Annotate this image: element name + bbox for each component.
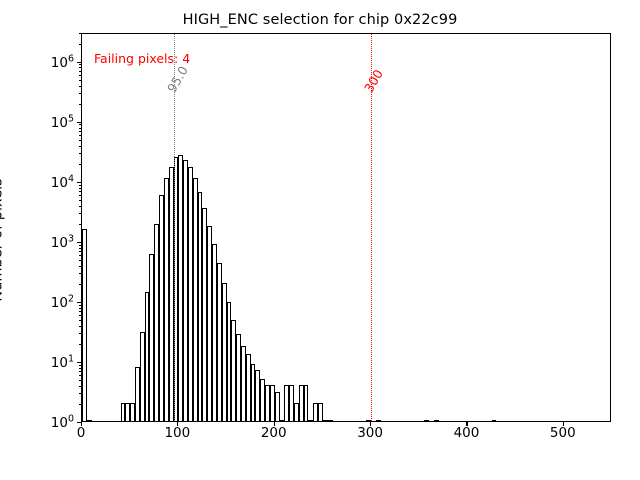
histogram-bar [328, 420, 333, 421]
y-axis-tick-label: 103 [24, 233, 74, 251]
histogram-bar [492, 420, 497, 421]
x-axis-tick-label: 300 [357, 425, 383, 441]
y-axis-tick-label: 101 [24, 353, 74, 371]
histogram-bar [376, 420, 381, 421]
failing-pixels-annotation: Failing pixels: 4 [94, 51, 190, 66]
chart-title: HIGH_ENC selection for chip 0x22c99 [0, 12, 640, 28]
histogram-bar [434, 420, 439, 421]
y-axis-tick-label: 100 [24, 413, 74, 431]
histogram-bars [82, 34, 610, 421]
y-axis-tick-label: 104 [24, 173, 74, 191]
histogram-bar [82, 229, 87, 421]
y-axis-tick [77, 422, 81, 423]
histogram-bar [87, 420, 92, 421]
histogram-bar [318, 403, 323, 421]
histogram-figure: HIGH_ENC selection for chip 0x22c99 Numb… [0, 0, 640, 480]
x-axis-tick-label: 500 [550, 425, 576, 441]
y-axis-tick-label: 105 [24, 113, 74, 131]
plot-area: 95.0300 Failing pixels: 4 [81, 33, 611, 422]
histogram-bar [304, 385, 309, 421]
histogram-bar [275, 392, 280, 421]
x-axis-tick-label: 100 [164, 425, 190, 441]
histogram-bar [424, 420, 429, 421]
y-axis-tick-label: 102 [24, 293, 74, 311]
y-axis-tick-label: 106 [24, 53, 74, 71]
x-axis-tick-label: 200 [261, 425, 287, 441]
x-axis-tick-label: 0 [77, 425, 86, 441]
y-axis-label: Number of pixels [0, 178, 6, 301]
x-axis-tick-label: 400 [454, 425, 480, 441]
